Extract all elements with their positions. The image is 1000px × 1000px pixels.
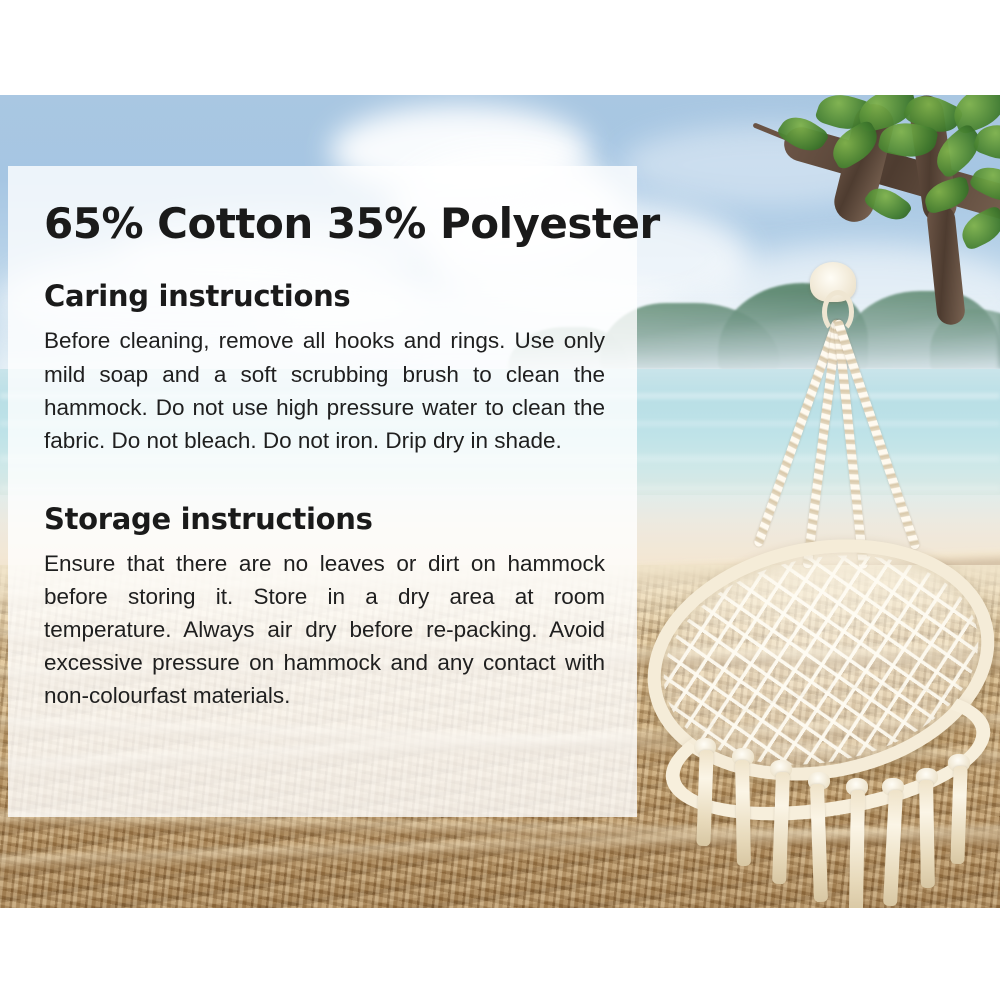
storage-instructions-heading: Storage instructions: [44, 503, 605, 536]
fringe-tassel: [772, 772, 790, 884]
product-banner: 65% Cotton 35% Polyester Caring instruct…: [0, 0, 1000, 1000]
storage-instructions-body: Ensure that there are no leaves or dirt …: [44, 547, 605, 712]
info-panel: 65% Cotton 35% Polyester Caring instruct…: [8, 166, 637, 817]
fringe-tassel: [849, 790, 865, 908]
page-title: 65% Cotton 35% Polyester: [44, 202, 605, 246]
fringe-tassel: [810, 784, 828, 902]
fringe-tassel: [950, 766, 967, 864]
caring-instructions-body: Before cleaning, remove all hooks and ri…: [44, 324, 605, 456]
fringe-tassel: [919, 780, 935, 888]
fringe-tassel: [696, 750, 713, 846]
fringe-group: [670, 738, 990, 908]
caring-instructions-heading: Caring instructions: [44, 280, 605, 313]
section-gap: [44, 457, 605, 503]
fringe-tassel: [883, 790, 903, 907]
macrame-hanging-chair: [640, 150, 1000, 770]
fringe-tassel: [735, 760, 751, 866]
